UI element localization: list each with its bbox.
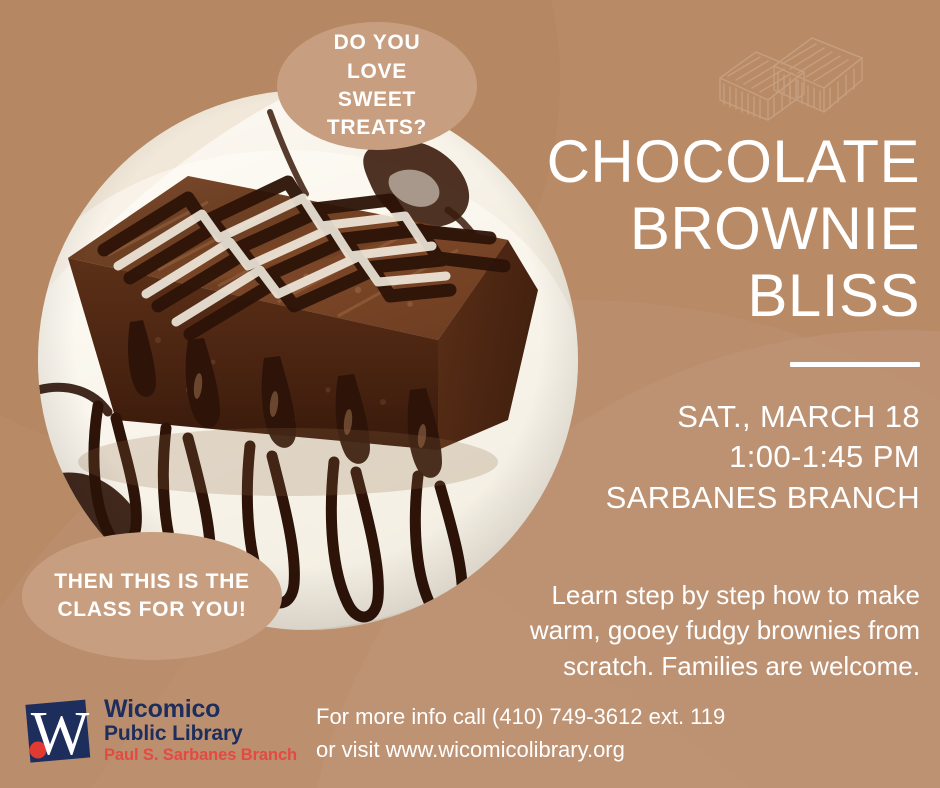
callout-bubble-bottom: THEN THIS IS THECLASS FOR YOU! [22,532,282,660]
callout-bubble-bottom-text: THEN THIS IS THECLASS FOR YOU! [26,568,278,625]
callout-bubble-top-line1: DO YOU LOVE [291,29,463,86]
library-logo: W Wicomico Public Library Paul S. Sarban… [20,694,300,774]
title-line-2: BROWNIE [520,195,920,262]
svg-text:W: W [31,700,90,768]
contact-phone-line: For more info call (410) 749-3612 ext. 1… [316,700,725,733]
title-line-3: BLISS [520,262,920,329]
poster-canvas: DO YOU LOVESWEET TREATS? THEN THIS IS TH… [0,0,940,788]
event-details: SAT., MARCH 18 1:00-1:45 PM SARBANES BRA… [520,397,920,520]
callout-bubble-top: DO YOU LOVESWEET TREATS? [277,22,477,150]
event-time: 1:00-1:45 PM [520,437,920,478]
footer-contact-info: For more info call (410) 749-3612 ext. 1… [316,700,725,766]
wicomico-w-mark-icon: W [20,696,98,770]
event-info-column: CHOCOLATE BROWNIE BLISS SAT., MARCH 18 1… [520,128,920,519]
event-date: SAT., MARCH 18 [520,397,920,438]
event-location: SARBANES BRANCH [520,478,920,519]
library-type: Public Library [104,722,304,746]
library-logo-text: Wicomico Public Library Paul S. Sarbanes… [104,696,304,765]
library-branch: Paul S. Sarbanes Branch [104,746,304,766]
event-description: Learn step by step how to make warm, goo… [490,578,920,684]
contact-website-line: or visit www.wicomicolibrary.org [316,733,725,766]
callout-bubble-top-text: DO YOU LOVESWEET TREATS? [277,29,477,142]
brownie-line-art-icon [712,14,882,124]
callout-bubble-top-line2: SWEET TREATS? [291,86,463,143]
callout-bubble-bottom-line2: CLASS FOR YOU! [40,596,264,624]
page-title: CHOCOLATE BROWNIE BLISS [520,128,920,330]
title-line-1: CHOCOLATE [520,128,920,195]
callout-bubble-bottom-line1: THEN THIS IS THE [40,568,264,596]
title-divider [790,362,920,367]
library-name: Wicomico [104,696,304,722]
